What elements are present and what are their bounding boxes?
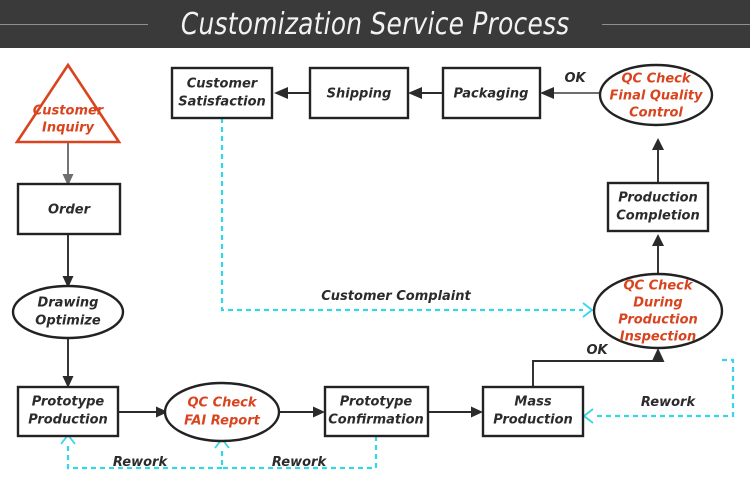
- node-qc-final-label-3: Control: [629, 106, 683, 121]
- node-packaging[interactable]: Packaging: [443, 68, 540, 118]
- node-drawing-optimize[interactable]: Drawing Optimize: [13, 286, 123, 338]
- node-customer-inquiry-label-1: Customer: [33, 104, 105, 119]
- flowchart-canvas: OK OK: [0, 48, 750, 490]
- node-prototype-production-label-1: Prototype: [32, 395, 105, 410]
- node-shipping-label: Shipping: [327, 87, 392, 102]
- header-banner: Customization Service Process: [0, 0, 750, 48]
- node-qc-final-label-2: Final Quality: [609, 89, 703, 104]
- edge-label-rework-prototype: Rework: [113, 455, 169, 470]
- node-mass-production-label-2: Production: [493, 413, 573, 428]
- edge-label-rework-mass: Rework: [641, 395, 697, 410]
- edge-customer-complaint: Customer Complaint: [222, 118, 592, 317]
- node-qc-during-label-4: Inspection: [620, 330, 697, 345]
- edge-production-completion-to-qcfinal: [652, 138, 664, 183]
- header-rule-left: [0, 24, 148, 25]
- edge-packaging-to-shipping: [408, 87, 443, 99]
- node-drawing-optimize-label-2: Optimize: [35, 314, 101, 329]
- node-qc-check-during-production[interactable]: QC Check During Production Inspection: [594, 274, 722, 348]
- edge-mass-production-to-qcduring-ok: OK: [533, 343, 665, 387]
- node-qc-during-label-2: During: [633, 296, 682, 311]
- node-mass-production-label-1: Mass: [514, 395, 551, 410]
- edge-qcfinal-to-packaging-ok: OK: [540, 71, 600, 99]
- node-prototype-production[interactable]: Prototype Production: [18, 387, 118, 436]
- node-mass-production[interactable]: Mass Production: [483, 387, 583, 436]
- node-order[interactable]: Order: [18, 184, 120, 234]
- edge-prototype-production-to-qcfai: [118, 407, 168, 418]
- edge-label-ok-qcfinal: OK: [564, 71, 586, 86]
- node-prototype-confirmation[interactable]: Prototype Confirmation: [325, 387, 428, 436]
- edge-order-to-drawing: [63, 234, 74, 288]
- node-production-completion-label-1: Production: [618, 191, 698, 206]
- header-rule-right: [602, 24, 750, 25]
- node-customer-satisfaction[interactable]: Customer Satisfaction: [172, 68, 272, 118]
- node-customer-satisfaction-label-2: Satisfaction: [178, 95, 266, 110]
- edge-inquiry-to-order: [63, 142, 74, 186]
- node-packaging-label: Packaging: [454, 87, 529, 102]
- node-prototype-production-label-2: Production: [28, 413, 108, 428]
- node-customer-inquiry-label-2: Inquiry: [42, 121, 95, 136]
- edge-qcduring-to-production-completion: [652, 234, 664, 274]
- node-drawing-optimize-label-1: Drawing: [37, 296, 98, 311]
- node-qc-check-fai-report[interactable]: QC Check FAI Report: [165, 383, 279, 441]
- node-prototype-confirmation-label-2: Confirmation: [328, 413, 424, 428]
- edge-rework-to-qcfai: Rework: [215, 436, 376, 470]
- node-production-completion-label-2: Completion: [616, 209, 699, 224]
- node-qc-final-label-1: QC Check: [621, 72, 691, 87]
- node-qc-during-label-3: Production: [618, 313, 698, 328]
- page-title: Customization Service Process: [166, 7, 584, 42]
- node-customer-inquiry[interactable]: Customer Inquiry: [17, 65, 119, 142]
- node-qc-fai-label-2: FAI Report: [184, 414, 260, 429]
- node-shipping[interactable]: Shipping: [310, 68, 408, 118]
- edge-label-customer-complaint: Customer Complaint: [321, 289, 471, 304]
- flowchart-page: Customization Service Process: [0, 0, 750, 490]
- edge-label-rework-qcfai: Rework: [272, 455, 328, 470]
- node-customer-satisfaction-label-1: Customer: [187, 77, 259, 92]
- edge-prototype-confirmation-to-mass-production: [428, 407, 483, 418]
- edge-label-ok-mass: OK: [586, 343, 608, 358]
- node-order-label: Order: [48, 203, 92, 218]
- edge-rework-to-prototype-production: Rework: [61, 435, 222, 470]
- edge-rework-to-mass-production: Rework: [584, 360, 733, 423]
- edge-drawing-to-prototype-production: [63, 336, 74, 388]
- node-prototype-confirmation-label-1: Prototype: [340, 395, 413, 410]
- node-production-completion[interactable]: Production Completion: [608, 183, 708, 231]
- edge-qcfai-to-prototype-confirmation: [280, 407, 325, 418]
- node-qc-during-label-1: QC Check: [623, 279, 693, 294]
- node-qc-check-final-quality-control[interactable]: QC Check Final Quality Control: [600, 65, 712, 125]
- node-qc-fai-label-1: QC Check: [187, 396, 257, 411]
- edge-shipping-to-customer-satisfaction: [274, 87, 310, 99]
